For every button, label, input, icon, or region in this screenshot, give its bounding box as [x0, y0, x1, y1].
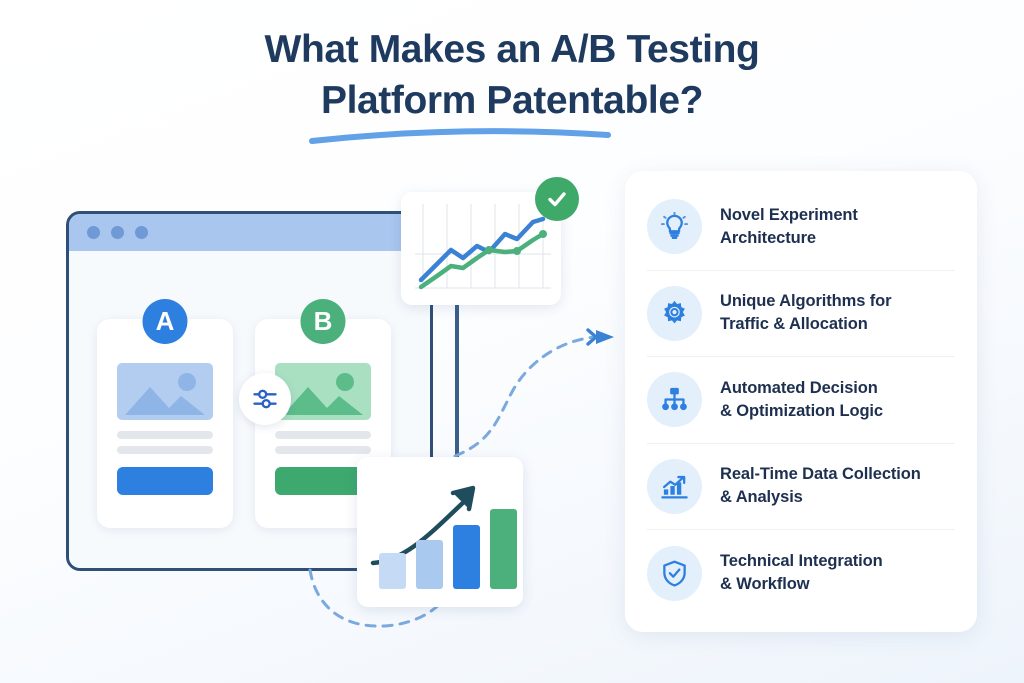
shield-check-icon — [660, 559, 689, 588]
feature-label-2-line-1: Unique Algorithms for — [720, 290, 891, 313]
feature-label-3-line-1: Automated Decision — [720, 377, 883, 400]
feature-row-unique-algorithms[interactable]: Unique Algorithms for Traffic & Allocati… — [647, 271, 955, 358]
variant-b-text-line-2 — [275, 446, 371, 454]
page-title: What Makes an A/B Testing Platform Paten… — [0, 24, 1024, 127]
title-line-1: What Makes an A/B Testing — [0, 24, 1024, 75]
feature-label-1-line-2: Architecture — [720, 227, 858, 250]
feature-row-novel-experiment-architecture[interactable]: Novel Experiment Architecture — [647, 184, 955, 271]
variant-a-cta-button[interactable] — [117, 467, 213, 495]
title-line-2: Platform Patentable? — [0, 75, 1024, 126]
feature-label-2-line-2: Traffic & Allocation — [720, 313, 891, 336]
feature-label-4-line-2: & Analysis — [720, 486, 921, 509]
window-dot-minimize-icon — [111, 226, 124, 239]
success-check-badge — [535, 177, 579, 221]
feature-row-automated-decision[interactable]: Automated Decision & Optimization Logic — [647, 357, 955, 444]
feature-label-4: Real-Time Data Collection & Analysis — [720, 463, 921, 509]
hierarchy-icon — [660, 385, 689, 414]
feature-label-5: Technical Integration & Workflow — [720, 550, 883, 596]
gear-icon — [660, 299, 689, 328]
bar-chart-card — [357, 457, 523, 607]
feature-label-5-line-2: & Workflow — [720, 573, 883, 596]
sliders-toggle-control[interactable] — [239, 373, 291, 425]
feature-label-1: Novel Experiment Architecture — [720, 204, 858, 250]
variant-card-a: A — [97, 319, 233, 528]
patentability-criteria-panel: Novel Experiment Architecture Unique Alg… — [625, 171, 977, 632]
hierarchy-icon-circle — [647, 372, 702, 427]
window-dot-close-icon — [87, 226, 100, 239]
variant-badge-b: B — [301, 299, 346, 344]
bar-chart-arrow-icon-circle — [647, 459, 702, 514]
variant-a-text-line-1 — [117, 431, 213, 439]
lightbulb-icon — [660, 212, 689, 241]
browser-titlebar — [69, 214, 430, 251]
infographic-canvas: What Makes an A/B Testing Platform Paten… — [0, 0, 1024, 683]
bar-chart-arrow-icon — [660, 472, 689, 501]
connector-line — [455, 300, 459, 472]
title-underline-stroke — [308, 122, 612, 148]
gear-icon-circle — [647, 286, 702, 341]
variant-b-text-line-1 — [275, 431, 371, 439]
variant-a-text-line-2 — [117, 446, 213, 454]
lightbulb-icon-circle — [647, 199, 702, 254]
check-icon — [545, 187, 569, 211]
feature-label-1-line-1: Novel Experiment — [720, 204, 858, 227]
variant-a-image-placeholder — [117, 363, 213, 420]
feature-label-5-line-1: Technical Integration — [720, 550, 883, 573]
shield-check-icon-circle — [647, 546, 702, 601]
window-dot-maximize-icon — [135, 226, 148, 239]
feature-label-3: Automated Decision & Optimization Logic — [720, 377, 883, 423]
feature-label-2: Unique Algorithms for Traffic & Allocati… — [720, 290, 891, 336]
feature-row-real-time-data[interactable]: Real-Time Data Collection & Analysis — [647, 444, 955, 531]
line-chart-card — [401, 192, 561, 305]
feature-label-4-line-1: Real-Time Data Collection — [720, 463, 921, 486]
bar-chart-graphic — [357, 457, 523, 607]
feature-row-technical-integration[interactable]: Technical Integration & Workflow — [647, 530, 955, 617]
variant-badge-a: A — [143, 299, 188, 344]
sliders-icon — [251, 385, 279, 413]
feature-label-3-line-2: & Optimization Logic — [720, 400, 883, 423]
